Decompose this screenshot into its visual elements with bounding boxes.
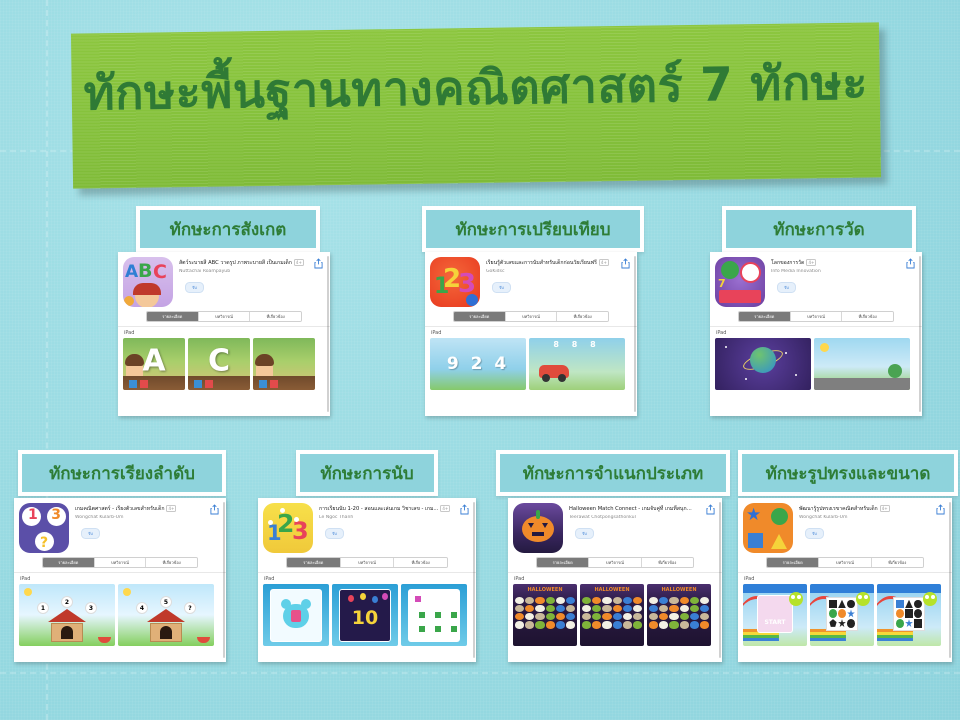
app-title: พัฒนารู้รูปทรงเรขาคณิตสำหรับเด็ก4+ xyxy=(799,505,948,513)
screenshot-strip[interactable]: HALLOWEEN HALLOWEEN xyxy=(508,584,722,646)
app-title: เรียนรู้ตัวเลขและการนับสำหรับเด็กก่อนวัย… xyxy=(486,259,633,267)
shapes-grid-icon: ★ xyxy=(743,503,793,553)
app-developer: Nuttachai Roampayub xyxy=(179,269,326,274)
segment-related[interactable]: ที่เกี่ยวข้อง xyxy=(842,312,893,321)
age-badge: 4+ xyxy=(806,259,816,266)
segment-details[interactable]: รายละเอียด xyxy=(43,558,95,567)
screenshot-strip[interactable]: 1 2 3 4 5 ? xyxy=(14,584,226,646)
segmented-control[interactable]: รายละเอียด บทวิจารณ์ ที่เกี่ยวข้อง xyxy=(738,311,894,322)
skill-label-classification: ทักษะการจำแนกประเภท xyxy=(496,450,730,496)
app-card-math-order[interactable]: 1 3 ? เกมคณิตศาสตร์ - เรียงตัวเลขสำหรับเ… xyxy=(14,498,226,662)
app-meta: การเรียนนับ 1-20 - สอนและเล่นเกม วิชาเลข… xyxy=(313,503,472,553)
screenshot-space-planet[interactable] xyxy=(715,338,811,390)
skill-label-measurement: ทักษะการวัด xyxy=(722,206,916,252)
get-button[interactable]: รับ xyxy=(325,528,344,539)
scrollbar[interactable] xyxy=(473,502,475,658)
app-developer: Wongchat Kularb-Um xyxy=(799,515,948,520)
app-card-shapes-sizes[interactable]: ★ พัฒนารู้รูปทรงเรขาคณิตสำหรับเด็ก4+ Won… xyxy=(738,498,952,662)
share-icon[interactable] xyxy=(314,258,323,269)
segment-related[interactable]: ที่เกี่ยวข้อง xyxy=(394,558,447,567)
segment-related[interactable]: ที่เกี่ยวข้อง xyxy=(250,312,301,321)
device-label: iPad xyxy=(258,572,476,584)
abc-letters-icon: A B C xyxy=(123,257,173,307)
scrollbar[interactable] xyxy=(634,256,636,412)
app-title: โลกของการวัด4+ xyxy=(771,259,918,267)
app-meta: โลกของการวัด4+ Info Media Innovation รับ xyxy=(765,257,918,307)
app-developer: Info Media Innovation xyxy=(771,269,918,274)
age-badge: 4+ xyxy=(880,505,890,512)
screenshot-shapes-start[interactable]: START xyxy=(743,584,807,646)
app-card-header: 7 โลกของการวัด4+ Info Media Innovation ร… xyxy=(710,252,922,307)
scrollbar[interactable] xyxy=(223,502,225,658)
segment-reviews[interactable]: บทวิจารณ์ xyxy=(791,312,843,321)
segmented-control[interactable]: รายละเอียด บทวิจารณ์ ที่เกี่ยวข้อง xyxy=(536,557,694,568)
screenshot-house-123[interactable]: 1 2 3 xyxy=(19,584,115,646)
screenshot-strip[interactable]: 10 xyxy=(258,584,476,646)
segment-related[interactable]: ที่เกี่ยวข้อง xyxy=(146,558,197,567)
segmented-control[interactable]: รายละเอียด บทวิจารณ์ ที่เกี่ยวข้อง xyxy=(286,557,448,568)
skill-label-counting: ทักษะการนับ xyxy=(296,450,438,496)
app-card-header: A B C สัตว์ระบายสี ABC วาดรูป ภาพระบายสี… xyxy=(118,252,330,307)
segment-details[interactable]: รายละเอียด xyxy=(739,312,791,321)
scrollbar[interactable] xyxy=(949,502,951,658)
segmented-control[interactable]: รายละเอียด บทวิจารณ์ ที่เกี่ยวข้อง xyxy=(453,311,609,322)
segmented-control[interactable]: รายละเอียด บทวิจารณ์ ที่เกี่ยวข้อง xyxy=(146,311,302,322)
age-badge: 4+ xyxy=(166,505,176,512)
screenshot-abc-kid-blocks[interactable] xyxy=(253,338,315,390)
get-button[interactable]: รับ xyxy=(81,528,100,539)
app-developer: Le Ngoc Thanh xyxy=(319,515,472,520)
scrollbar[interactable] xyxy=(719,502,721,658)
device-label: iPad xyxy=(14,572,226,584)
screenshot-strip[interactable]: 9 2 4 8 8 8 xyxy=(425,338,637,390)
segment-related[interactable]: ที่เกี่ยวข้อง xyxy=(642,558,693,567)
device-label: iPad xyxy=(710,326,922,338)
app-card-header: 1 2 3 การเรียนนับ 1-20 - สอนและเล่นเกม ว… xyxy=(258,498,476,553)
segment-reviews[interactable]: บทวิจารณ์ xyxy=(589,558,641,567)
guide-line-horizontal-bottom xyxy=(0,672,960,674)
app-meta: พัฒนารู้รูปทรงเรขาคณิตสำหรับเด็ก4+ Wongc… xyxy=(793,503,948,553)
scrollbar[interactable] xyxy=(919,256,921,412)
get-button[interactable]: รับ xyxy=(777,282,796,293)
clock-measure-icon: 7 xyxy=(715,257,765,307)
segment-details[interactable]: รายละเอียด xyxy=(767,558,819,567)
slide-canvas: ทักษะพื้นฐานทางคณิตศาสตร์ 7 ทักษะ ทักษะก… xyxy=(0,0,960,720)
pumpkin-icon xyxy=(513,503,563,553)
segment-details[interactable]: รายละเอียด xyxy=(287,558,341,567)
share-icon[interactable] xyxy=(621,258,630,269)
app-meta: เกมคณิตศาสตร์ - เรียงตัวเลขสำหรับเด็ก4+ … xyxy=(69,503,222,553)
segment-details[interactable]: รายละเอียด xyxy=(537,558,589,567)
app-card-header: 1 3 ? เกมคณิตศาสตร์ - เรียงตัวเลขสำหรับเ… xyxy=(14,498,226,553)
page-title: ทักษะพื้นฐานทางคณิตศาสตร์ 7 ทักษะ xyxy=(71,56,880,121)
share-icon[interactable] xyxy=(210,504,219,515)
screenshot-bear-numbers[interactable] xyxy=(263,584,329,646)
skill-label-comparison: ทักษะการเปรียบเทียบ xyxy=(422,206,644,252)
screenshot-halloween-board-3[interactable]: HALLOWEEN xyxy=(647,584,711,646)
screenshot-number-car-8[interactable]: 8 8 8 xyxy=(529,338,625,390)
skill-label-shape-size: ทักษะรูปทรงและขนาด xyxy=(738,450,958,496)
app-title: Halloween Match Connect - เกมจับคู่ที่ เ… xyxy=(569,505,718,513)
app-card-header: ★ พัฒนารู้รูปทรงเรขาคณิตสำหรับเด็ก4+ Won… xyxy=(738,498,952,553)
app-developer: GoKidsc xyxy=(486,269,633,274)
segment-reviews[interactable]: บทวิจารณ์ xyxy=(341,558,395,567)
share-icon[interactable] xyxy=(906,258,915,269)
app-card-count-1-20[interactable]: 1 2 3 การเรียนนับ 1-20 - สอนและเล่นเกม ว… xyxy=(258,498,476,662)
app-meta: เรียนรู้ตัวเลขและการนับสำหรับเด็กก่อนวัย… xyxy=(480,257,633,307)
age-badge: 4+ xyxy=(294,259,304,266)
segment-reviews[interactable]: บทวิจารณ์ xyxy=(506,312,558,321)
device-label: iPad xyxy=(425,326,637,338)
app-title: สัตว์ระบายสี ABC วาดรูป ภาพระบายสี เป็นเ… xyxy=(179,259,326,267)
app-meta: สัตว์ระบายสี ABC วาดรูป ภาพระบายสี เป็นเ… xyxy=(173,257,326,307)
screenshot-abc-letter-c[interactable]: C xyxy=(188,338,250,390)
123-numbers-icon: 1 2 3 xyxy=(430,257,480,307)
get-button[interactable]: รับ xyxy=(185,282,204,293)
app-card-measure-world[interactable]: 7 โลกของการวัด4+ Info Media Innovation ร… xyxy=(710,252,922,416)
device-label: iPad xyxy=(738,572,952,584)
device-label: iPad xyxy=(118,326,330,338)
segment-reviews[interactable]: บทวิจารณ์ xyxy=(819,558,871,567)
screenshot-measure-scene[interactable] xyxy=(814,338,910,390)
app-card-abc[interactable]: A B C สัตว์ระบายสี ABC วาดรูป ภาพระบายสี… xyxy=(118,252,330,416)
skill-label-observation: ทักษะการสังเกต xyxy=(136,206,320,252)
screenshot-abc-letter-a[interactable]: A xyxy=(123,338,185,390)
get-button[interactable]: รับ xyxy=(575,528,594,539)
segmented-control[interactable]: รายละเอียด บทวิจารณ์ ที่เกี่ยวข้อง xyxy=(42,557,198,568)
device-label: iPad xyxy=(508,572,722,584)
age-badge: 4+ xyxy=(440,505,450,512)
screenshot-strip[interactable] xyxy=(710,338,922,390)
share-icon[interactable] xyxy=(936,504,945,515)
app-title: การเรียนนับ 1-20 - สอนและเล่นเกม วิชาเลข… xyxy=(319,505,472,513)
screenshot-halloween-board-2[interactable]: HALLOWEEN xyxy=(580,584,644,646)
app-title: เกมคณิตศาสตร์ - เรียงตัวเลขสำหรับเด็ก4+ xyxy=(75,505,222,513)
app-card-header: Halloween Match Connect - เกมจับคู่ที่ เ… xyxy=(508,498,722,553)
screenshot-shapes-match-1[interactable] xyxy=(810,584,874,646)
get-button[interactable]: รับ xyxy=(492,282,511,293)
title-banner: ทักษะพื้นฐานทางคณิตศาสตร์ 7 ทักษะ xyxy=(71,22,881,188)
screenshot-touch-count-924[interactable]: 9 2 4 xyxy=(430,338,526,390)
share-icon[interactable] xyxy=(460,504,469,515)
share-icon[interactable] xyxy=(706,504,715,515)
screenshot-strip[interactable]: START xyxy=(738,584,952,646)
segmented-control[interactable]: รายละเอียด บทวิจารณ์ ที่เกี่ยวข้อง xyxy=(766,557,924,568)
app-meta: Halloween Match Connect - เกมจับคู่ที่ เ… xyxy=(563,503,718,553)
skill-label-ordering: ทักษะการเรียงลำดับ xyxy=(18,450,226,496)
segment-details[interactable]: รายละเอียด xyxy=(147,312,199,321)
screenshot-count-list[interactable] xyxy=(401,584,467,646)
screenshot-shapes-match-2[interactable] xyxy=(877,584,941,646)
numbers-circles-icon: 1 3 ? xyxy=(19,503,69,553)
screenshot-house-4567[interactable]: 4 5 ? xyxy=(118,584,214,646)
scrollbar[interactable] xyxy=(327,256,329,412)
segment-reviews[interactable]: บทวิจารณ์ xyxy=(95,558,147,567)
app-developer: Teerawat Chotpongsathonkul xyxy=(569,515,718,520)
screenshot-halloween-board-1[interactable]: HALLOWEEN xyxy=(513,584,577,646)
age-badge: 4+ xyxy=(599,259,609,266)
googly-123-icon: 1 2 3 xyxy=(263,503,313,553)
segment-related[interactable]: ที่เกี่ยวข้อง xyxy=(872,558,923,567)
app-card-numbers123[interactable]: 1 2 3 เรียนรู้ตัวเลขและการนับสำหรับเด็กก… xyxy=(425,252,637,416)
app-developer: Wongchat Kularb-Um xyxy=(75,515,222,520)
segment-details[interactable]: รายละเอียด xyxy=(454,312,506,321)
segment-reviews[interactable]: บทวิจารณ์ xyxy=(199,312,251,321)
get-button[interactable]: รับ xyxy=(805,528,824,539)
segment-related[interactable]: ที่เกี่ยวข้อง xyxy=(557,312,608,321)
screenshot-ten-balloons[interactable]: 10 xyxy=(332,584,398,646)
app-card-header: 1 2 3 เรียนรู้ตัวเลขและการนับสำหรับเด็กก… xyxy=(425,252,637,307)
app-card-halloween-match[interactable]: Halloween Match Connect - เกมจับคู่ที่ เ… xyxy=(508,498,722,662)
screenshot-strip[interactable]: A C xyxy=(118,338,330,390)
